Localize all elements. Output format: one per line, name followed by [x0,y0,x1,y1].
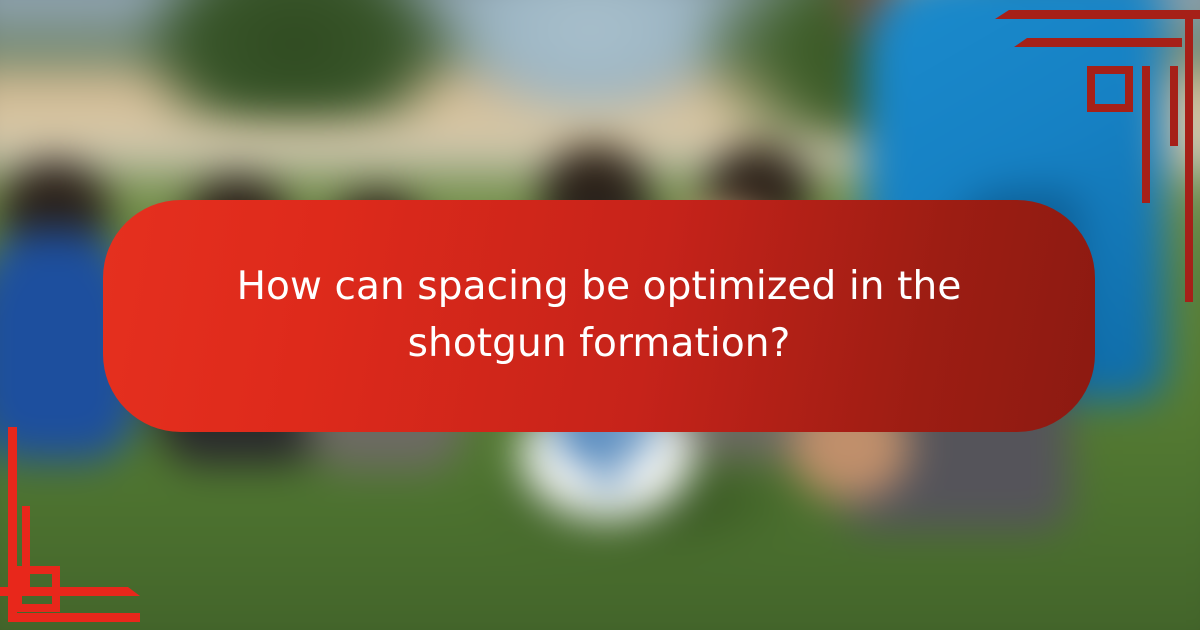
ornament-tr-horizontal-line-1 [995,10,1200,19]
social-card-canvas: How can spacing be optimized in the shot… [0,0,1200,630]
ornament-tr-vertical-line-long [1185,10,1193,302]
ornament-bl-horizontal-line-1 [8,613,140,622]
tree-left [130,0,460,120]
question-card: How can spacing be optimized in the shot… [103,200,1095,432]
ornament-tr-square-tail [1170,66,1178,146]
question-title: How can spacing be optimized in the shot… [181,259,1017,372]
ornament-tr-horizontal-line-2 [1014,38,1182,47]
sky-patch [440,0,740,120]
ornament-tr-vertical-line-short [1142,66,1150,203]
ornament-bl-small-square [14,566,60,612]
ornament-tr-small-square [1087,66,1133,112]
